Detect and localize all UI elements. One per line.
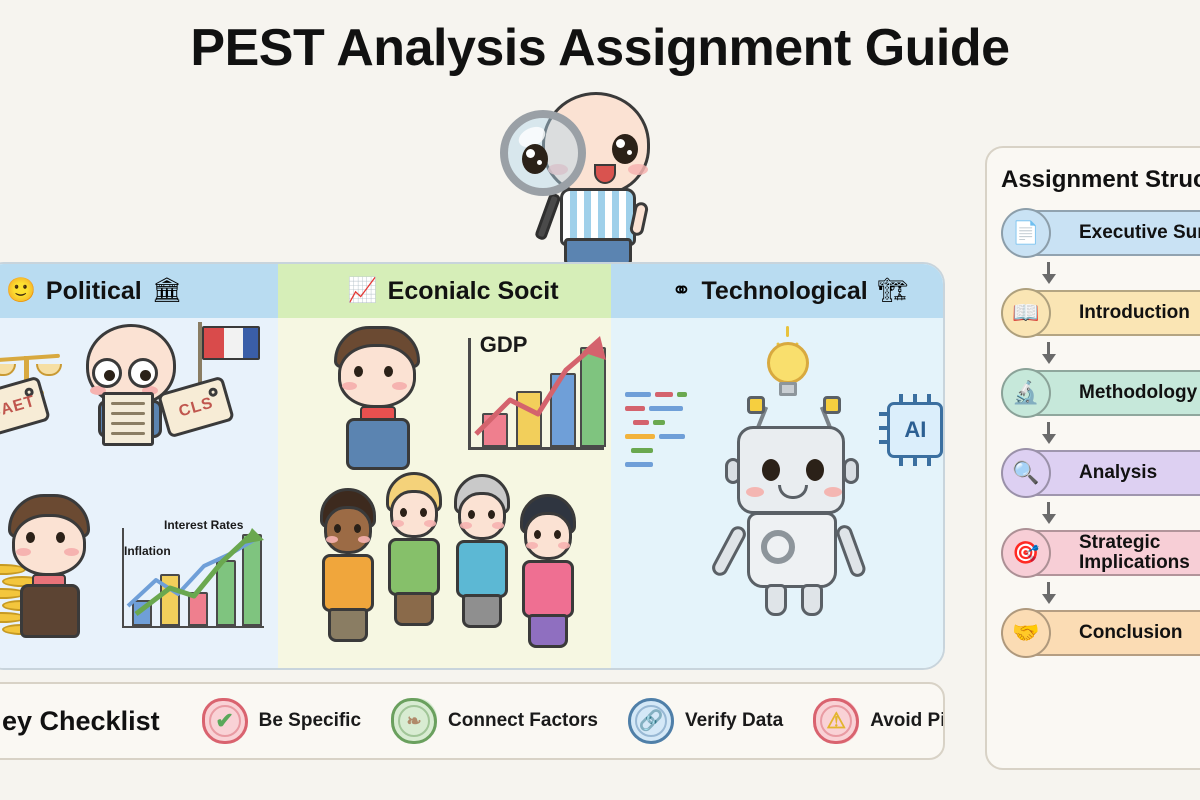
warning-triangle-icon: ⚠ [813,698,859,744]
sidebar-step-executive-summary[interactable]: Executive Summ 📄 [1001,206,1200,260]
flow-arrow-2 [1001,420,1200,446]
target-icon: 🎯 [1001,528,1051,578]
gdp-label: GDP [480,332,528,358]
checklist-label-2: Verify Data [685,710,783,732]
person-2 [380,472,448,636]
flow-arrow-3 [1001,500,1200,526]
document-icon: 📄 [1001,208,1051,258]
government-building-icon: 🏛 [152,279,182,303]
merchant-character [0,494,124,634]
page-title: PEST Analysis Assignment Guide [0,18,1200,78]
checklist-item-connect-factors[interactable]: ❧ Connect Factors [391,698,598,744]
interest-rates-label: Interest Rates [164,518,243,532]
step-label-0: Executive Summ [1079,223,1200,243]
step-label-4: Strategic Implications [1079,533,1200,573]
sidebar-step-analysis[interactable]: Analysis 🔍 [1001,446,1200,500]
political-header: 🙂 Political 🏛 [0,264,278,318]
person-3 [448,474,516,638]
checklist-item-be-specific[interactable]: ✔ Be Specific [202,698,361,744]
key-checklist-bar: ey Checklist ✔ Be Specific ❧ Connect Fac… [0,682,945,760]
pest-column-economic[interactable]: 📈 Econialc Socit [278,264,612,668]
inflation-label: Inflation [124,544,171,558]
checklist-item-verify-data[interactable]: 🔗 Verify Data [628,698,783,744]
people-group [314,472,604,642]
flow-arrow-4 [1001,580,1200,606]
lightbulb-icon [759,342,817,400]
mascot-cheek-right [628,164,648,175]
ai-chip-icon: AI [879,394,945,466]
step-label-1: Introduction [1079,303,1190,323]
checklist-items: ✔ Be Specific ❧ Connect Factors 🔗 Ve [202,698,945,744]
inflation-interest-chart: Inflation Interest Rates [112,510,272,638]
step-label-3: Analysis [1079,463,1157,483]
economic-label: Econialc Socit [388,277,559,306]
sidebar-title: Assignment Struct [1001,166,1200,194]
flow-arrow-0 [1001,260,1200,286]
price-tag-2-text: CLS [164,391,229,425]
sidebar-step-strategic-implications[interactable]: Strategic Implications 🎯 [1001,526,1200,580]
mascot-eye-right [612,134,638,164]
flow-arrow-1 [1001,340,1200,366]
technological-header: ⚭ Technological 🏗 [611,264,943,318]
magnifier-icon: 🔍 [1001,448,1051,498]
ai-chip-label: AI [887,402,943,458]
checklist-label-3: Avoid Pitfalls [870,710,945,732]
price-tag-1-text: CAET [0,391,45,425]
sidebar-step-methodology[interactable]: Methodology 🔬 [1001,366,1200,420]
technological-label: Technological [702,277,868,306]
magnifying-glass-mascot [500,92,670,267]
magnifier-handle [534,192,562,241]
document-icon [102,392,154,446]
gdp-chart: GDP [454,326,614,466]
open-book-icon: 📖 [1001,288,1051,338]
checklist-item-avoid-pitfalls[interactable]: ⚠ Avoid Pitfalls [813,698,945,744]
pest-panel: 🙂 Political 🏛 [0,262,945,670]
growth-arrow-icon: 📈 [348,279,378,303]
handshake-icon: 🤝 [1001,608,1051,658]
gdp-trend-arrow [454,326,614,466]
crane-icon: 🏗 [878,279,908,303]
infographic-page: PEST Analysis Assignment Guide 🙂 [0,0,1200,800]
sidebar-step-conclusion[interactable]: Conclusion 🤝 [1001,606,1200,660]
person-4 [514,494,582,658]
code-snippet-icon [625,392,711,470]
assignment-structure-card: Assignment Struct Executive Summ 📄 Intro… [985,146,1200,770]
robot-character [707,384,877,614]
checklist-label-1: Connect Factors [448,710,598,732]
political-label: Political [46,277,142,306]
vendor-character [318,326,448,466]
checklist-label-0: Be Specific [259,710,361,732]
mascot-eye-left [522,144,548,174]
puzzle-link-icon: ❧ [391,698,437,744]
smiley-face-icon: 🙂 [6,279,36,303]
microscope-icon: 🔬 [1001,368,1051,418]
network-nodes-icon: ⚭ [671,279,691,303]
pest-column-political[interactable]: 🙂 Political 🏛 [0,264,278,668]
step-label-2: Methodology [1079,383,1197,403]
chain-link-icon: 🔗 [628,698,674,744]
pest-column-technological[interactable]: ⚭ Technological 🏗 [611,264,943,668]
checklist-title: ey Checklist [2,706,160,737]
step-label-5: Conclusion [1079,623,1182,643]
check-mark-icon: ✔ [202,698,248,744]
economic-header: 📈 Econialc Socit [278,264,612,318]
flag-icon [196,322,266,388]
sidebar-step-introduction[interactable]: Introduction 📖 [1001,286,1200,340]
person-1 [314,488,382,652]
